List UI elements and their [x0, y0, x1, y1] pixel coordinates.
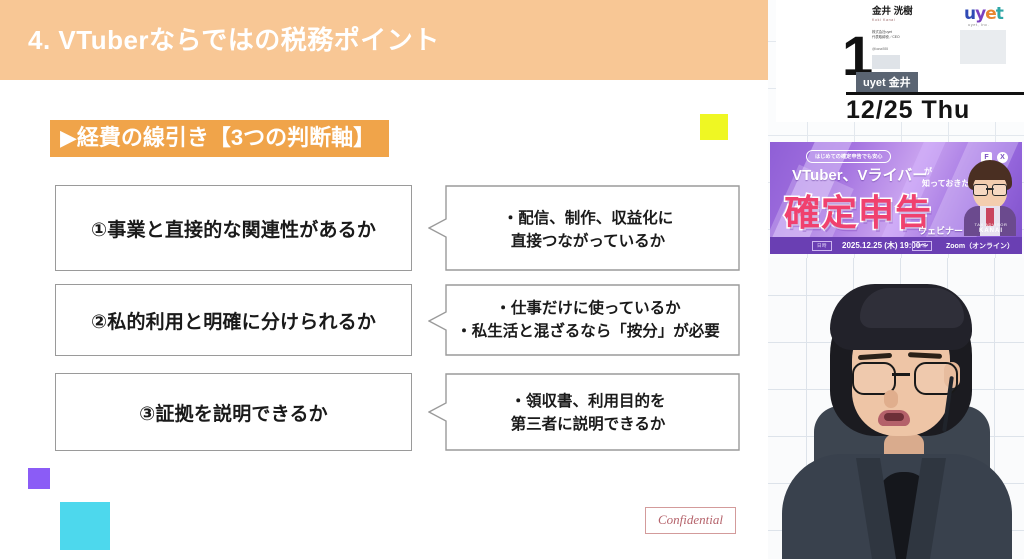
presenter-name-chip: uyet 金井: [856, 72, 918, 93]
speaker-handle: @kanai555: [872, 47, 938, 51]
speaker-name: 金井 洸樹: [872, 3, 938, 17]
presenter-video-tile: [768, 258, 1024, 559]
callout-1-line-2: 直接つながっているか: [446, 230, 730, 253]
presenter-hair-highlight: [860, 288, 964, 328]
speaker-name-romaji: Koki Kanai: [872, 18, 938, 22]
criterion-box-1-label: ①事業と直接的な関連性があるか: [91, 215, 376, 242]
avatar-role-label: TAX ADVISOR: [966, 222, 1016, 227]
callout-1-line-1: ・配信、制作、収益化に: [446, 207, 730, 230]
criterion-callout-2-text: ・仕事だけに使っているか ・私生活と混ざるなら「按分」が必要: [446, 297, 730, 344]
banner-tagline-chip: はじめての確定申告でも安心: [806, 150, 891, 163]
logo-placeholder-block: [960, 30, 1006, 64]
avatar-fringe: [970, 166, 1010, 180]
banner-venue-text: Zoom（オンライン）: [946, 241, 1014, 251]
callout-3-line-1: ・領収書、利用目的を: [446, 390, 730, 413]
banner-footer-chip-date: 日時: [812, 241, 832, 251]
presenter-mouth-inner: [884, 413, 904, 421]
callout-3-line-2: 第三者に説明できるか: [446, 413, 730, 436]
criterion-callout-1-text: ・配信、制作、収益化に 直接つながっているか: [446, 207, 730, 254]
banner-footer-chip-venue: 会場: [912, 241, 932, 251]
slide-subtitle: ▶経費の線引き【3つの判断軸】: [50, 120, 389, 157]
criterion-box-2: ②私的利用と明確に分けられるか: [55, 284, 412, 356]
criterion-box-2-label: ②私的利用と明確に分けられるか: [91, 307, 376, 334]
speaker-org-line-2: 代表取締役／CEO: [872, 35, 938, 40]
banner-footer-bar: 日時 2025.12.25 (木) 19:00〜 会場 Zoom（オンライン）: [770, 237, 1022, 254]
presenter-column: 金井 洸樹 Koki Kanai 株式会社uyet 代表取締役／CEO @kan…: [768, 0, 1024, 559]
avatar-lens-right: [992, 184, 1007, 196]
criterion-box-3: ③証拠を説明できるか: [55, 373, 412, 451]
uyet-logo-y: y: [975, 4, 985, 24]
confidential-badge: Confidential: [645, 507, 736, 534]
presenter-nose: [884, 390, 898, 408]
calendar-title-card: 金井 洸樹 Koki Kanai 株式会社uyet 代表取締役／CEO @kan…: [768, 0, 1024, 130]
criterion-box-3-label: ③証拠を説明できるか: [139, 399, 328, 426]
uyet-logo-u: u: [964, 4, 975, 24]
criterion-callout-2: ・仕事だけに使っているか ・私生活と混ざるなら「按分」が必要: [428, 284, 740, 356]
criterion-callout-3: ・領収書、利用目的を 第三者に説明できるか: [428, 373, 740, 451]
banner-headline-line-1: VTuber、Vライバー: [792, 164, 927, 185]
criterion-callout-1: ・配信、制作、収益化に 直接つながっているか: [428, 185, 740, 271]
presentation-slide: 4. VTuberならではの税務ポイント ▶経費の線引き【3つの判断軸】 ①事業…: [0, 0, 768, 559]
banner-headline-particle: が: [924, 166, 932, 177]
webinar-banner: はじめての確定申告でも安心 VTuber、Vライバー が 知っておきたい 確定申…: [770, 142, 1022, 254]
callout-2-line-1: ・仕事だけに使っているか: [446, 297, 730, 320]
avatar-glasses-icon: [973, 184, 1007, 194]
avatar-name-label: KANAI: [966, 228, 1016, 234]
decorative-square-purple: [28, 468, 50, 489]
uyet-logo-t: t: [996, 4, 1003, 24]
uyet-logo: uyet: [964, 4, 1003, 24]
decorative-square-cyan: [60, 502, 110, 550]
criterion-box-1: ①事業と直接的な関連性があるか: [55, 185, 412, 271]
decorative-square-yellow: [700, 114, 728, 140]
name-card-placeholder-block: [872, 55, 900, 69]
avatar-lens-left: [973, 184, 988, 196]
speaker-name-card: 金井 洸樹 Koki Kanai 株式会社uyet 代表取締役／CEO @kan…: [872, 3, 938, 65]
calendar-divider: [846, 92, 1024, 95]
calendar-date-label: 12/25 Thu: [846, 96, 970, 125]
slide-title: 4. VTuberならではの税務ポイント: [28, 20, 440, 57]
speaker-org: 株式会社uyet 代表取締役／CEO: [872, 30, 938, 40]
banner-main-title: 確定申告: [784, 184, 932, 236]
presenter-glasses-bridge: [892, 373, 910, 376]
presenter-glasses-icon: [852, 362, 954, 392]
uyet-logo-e: e: [985, 4, 996, 24]
banner-avatar-illustration: TAX ADVISOR KANAI: [962, 160, 1018, 236]
criterion-callout-3-text: ・領収書、利用目的を 第三者に説明できるか: [446, 390, 730, 437]
callout-2-line-2: ・私生活と混ざるなら「按分」が必要: [446, 320, 730, 343]
uyet-logo-tagline: uyet, Inc.: [968, 22, 989, 27]
